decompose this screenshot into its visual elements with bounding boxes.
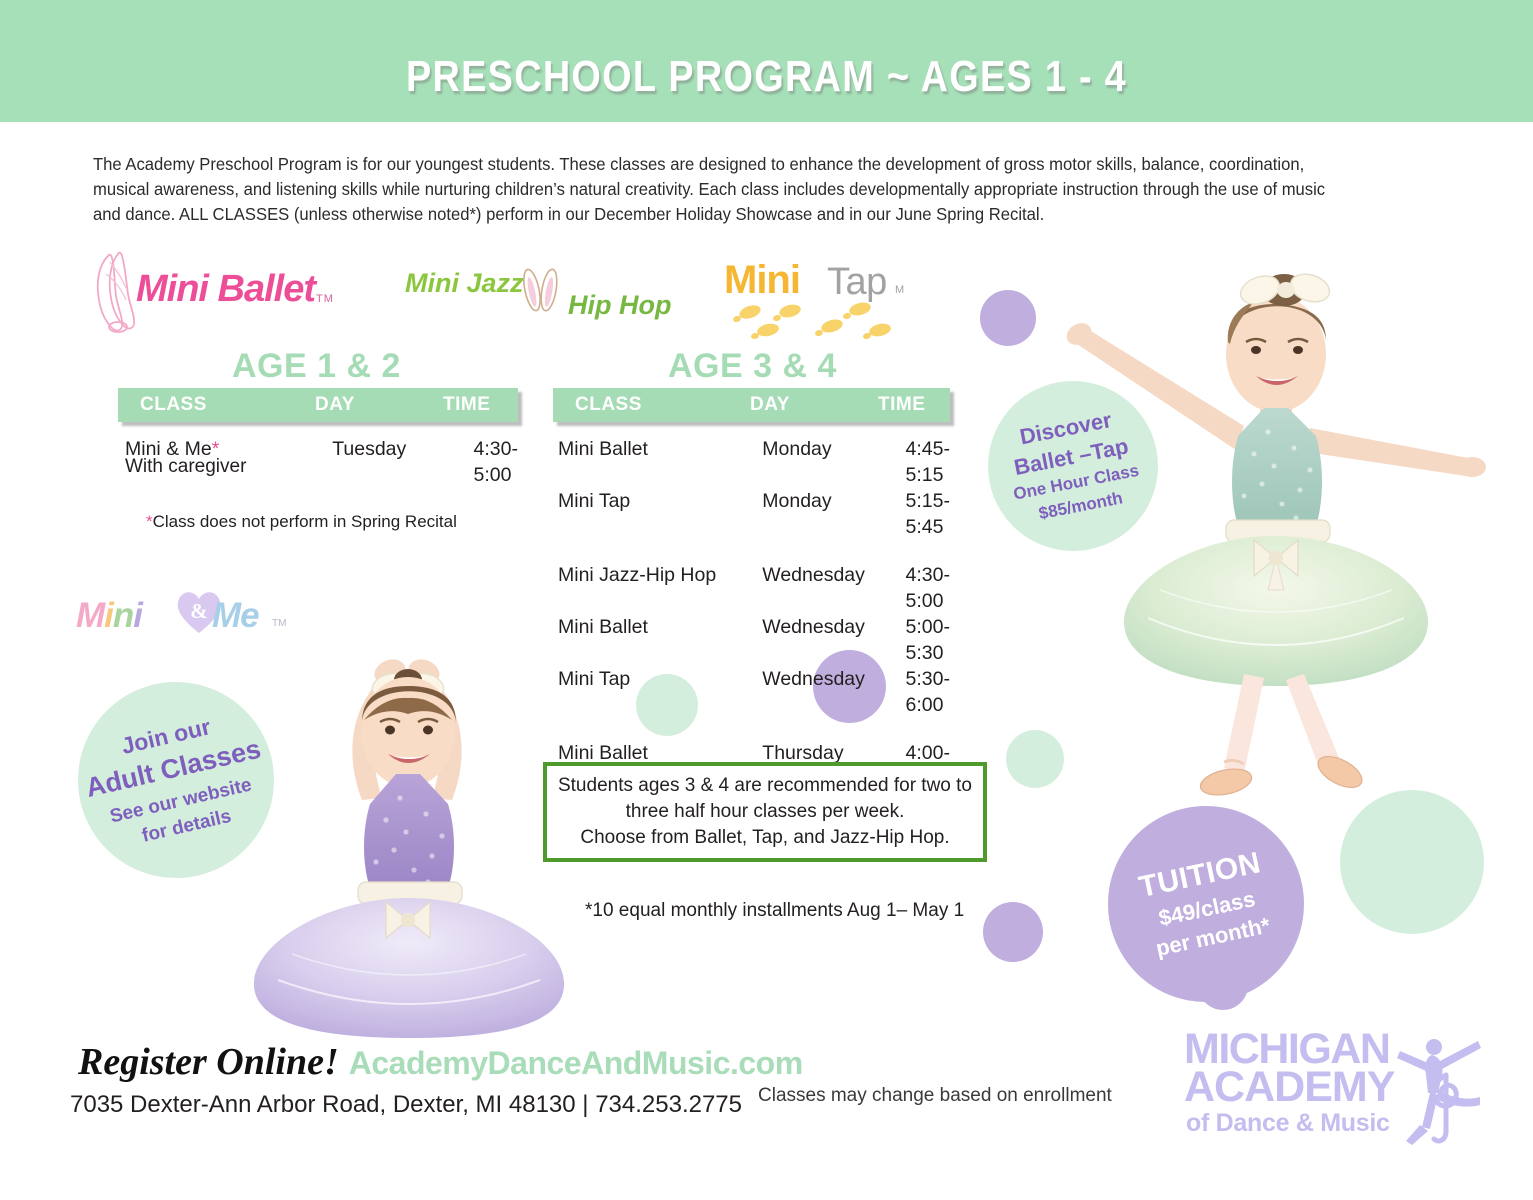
age-heading-3-4: AGE 3 & 4 [668, 347, 837, 386]
cell-day: Wednesday [744, 562, 899, 614]
column-header-day: DAY [315, 394, 435, 416]
spring-recital-footnote: *Class does not perform in Spring Recita… [146, 512, 457, 532]
ampersand-glyph: & [190, 599, 208, 623]
cell-day: Monday [744, 436, 899, 488]
cell-class: Mini Jazz-Hip Hop [553, 562, 744, 614]
cell-time: 4:45-5:15 [900, 436, 950, 488]
mini-ballet-tm: TM [316, 293, 334, 305]
intro-paragraph: The Academy Preschool Program is for our… [93, 152, 1347, 227]
ballerina-green-photo [1048, 268, 1508, 838]
address-line: 7035 Dexter-Ann Arbor Road, Dexter, MI 4… [70, 1091, 742, 1119]
recommendation-box: Students ages 3 & 4 are recommended for … [543, 762, 987, 862]
table-header-row: CLASS DAY TIME [118, 388, 518, 422]
cell-day: Wednesday [744, 614, 899, 666]
mini-tap-word2: Tap [827, 261, 887, 304]
table-header-row: CLASS DAY TIME [553, 388, 950, 422]
enrollment-note: Classes may change based on enrollment [758, 1085, 1112, 1107]
decorative-circle-purple [983, 902, 1043, 962]
row-group-separator [553, 540, 950, 562]
cell-time: 4:30-5:00 [452, 436, 518, 488]
tap-footprints-icon [728, 302, 908, 342]
recommendation-line-1: Students ages 3 & 4 are recommended for … [558, 773, 972, 799]
column-header-time: TIME [435, 394, 518, 416]
cell-class: Mini Tap [553, 488, 744, 540]
cell-time: 5:00-5:30 [900, 614, 950, 666]
website-link[interactable]: AcademyDanceAndMusic.com [349, 1045, 803, 1081]
table-row: Mini Jazz-Hip Hop Wednesday 4:30-5:00 [553, 562, 950, 614]
installments-note: *10 equal monthly installments Aug 1– Ma… [585, 900, 964, 922]
mini-jazz-logo: Mini Jazz [405, 268, 524, 299]
table-row: Mini Tap Monday 5:15-5:45 [553, 488, 950, 540]
recommendation-line-3: Choose from Ballet, Tap, and Jazz-Hip Ho… [580, 825, 949, 851]
mini-and-me-word1: Mini [76, 596, 142, 636]
register-online-label: Register Online! [78, 1041, 339, 1083]
cell-day: Wednesday [744, 666, 899, 718]
mini-tap-tm: M [895, 284, 904, 296]
michigan-academy-logo: MICHIGAN ACADEMY of Dance & Music [1184, 1029, 1484, 1147]
dancer-treble-clef-icon [1382, 1031, 1484, 1149]
table-row: Mini Ballet Monday 4:45-5:15 [553, 436, 950, 488]
mini-tap-logo: Mini Tap M [724, 258, 924, 338]
footnote-asterisk: * [146, 512, 153, 531]
cell-time: 5:15-5:45 [900, 488, 950, 540]
hip-hop-label: Hip Hop [568, 290, 671, 321]
column-header-day: DAY [750, 394, 870, 416]
footnote-text: Class does not perform in Spring Recital [153, 512, 457, 531]
mini-ballet-label: Mini Ballet [136, 268, 315, 311]
cell-day: Tuesday [274, 436, 451, 488]
register-line: Register Online!AcademyDanceAndMusic.com [78, 1040, 803, 1084]
caregiver-subnote: With caregiver [125, 456, 246, 478]
cell-time: 5:30-6:00 [900, 666, 950, 718]
column-header-class: CLASS [553, 394, 750, 416]
mini-ballet-logo: Mini Ballet TM [88, 258, 348, 328]
recommendation-line-2: three half hour classes per week. [626, 799, 905, 825]
column-header-class: CLASS [118, 394, 315, 416]
mini-tap-word1: Mini [724, 258, 800, 303]
logo-line-academy: ACADEMY [1184, 1067, 1394, 1107]
cell-time: 4:30-5:00 [900, 562, 950, 614]
logo-line-subtitle: of Dance & Music [1186, 1109, 1390, 1138]
age-heading-1-2: AGE 1 & 2 [232, 347, 401, 386]
column-header-time: TIME [870, 394, 950, 416]
cell-day: Monday [744, 488, 899, 540]
bunny-ears-icon [518, 266, 564, 314]
mini-jazz-label: Mini Jazz [405, 268, 524, 298]
decorative-circle-purple [980, 290, 1036, 346]
cell-class: Mini Ballet [553, 436, 744, 488]
page-title: PRESCHOOL PROGRAM ~ AGES 1 - 4 [107, 52, 1425, 102]
